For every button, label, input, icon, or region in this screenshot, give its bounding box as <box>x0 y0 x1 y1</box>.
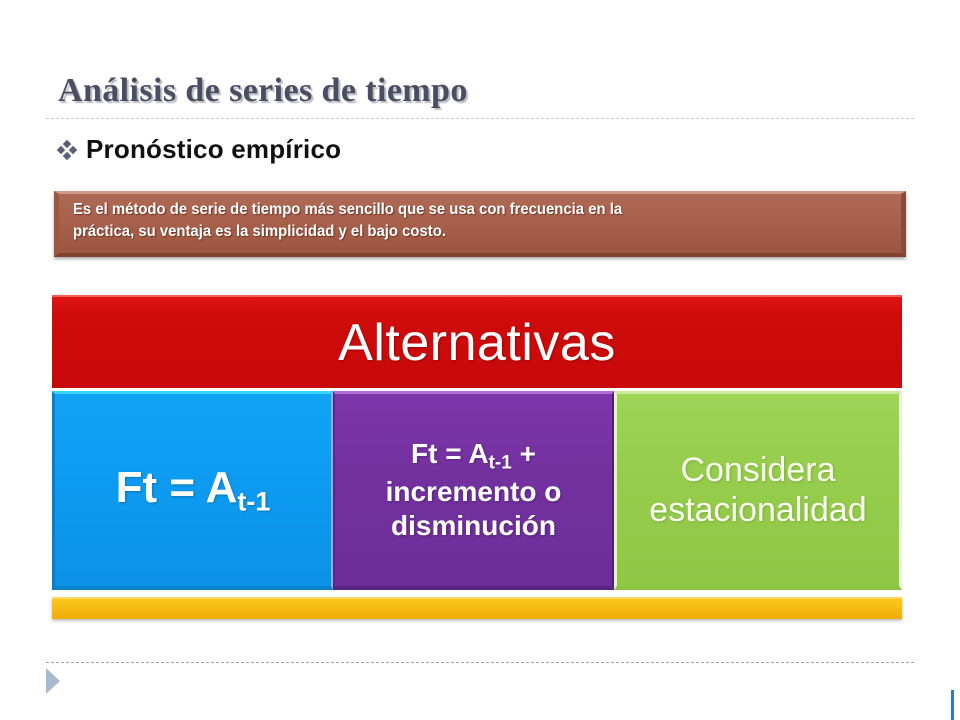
footer-divider <box>46 662 914 663</box>
callout-line-1: Es el método de serie de tiempo más senc… <box>73 199 854 221</box>
page-title: Análisis de series de tiempo <box>58 72 468 110</box>
box-purple-subscript: t-1 <box>489 453 512 474</box>
diagram-box-empirico-simple: Ft = At-1 <box>52 391 333 590</box>
bullet-item-label: Pronóstico empírico <box>86 134 341 165</box>
bullet-list-item: Pronóstico empírico <box>58 134 341 165</box>
box-purple-content: Ft = At-1 + incremento o disminución <box>343 437 604 543</box>
diagram-bottom-accent-bar <box>52 597 902 619</box>
diagram-box-con-incremento: Ft = At-1 + incremento o disminución <box>333 391 614 590</box>
slide-canvas: Análisis de series de tiempo Pronóstico … <box>0 0 960 720</box>
diagram-header: Alternativas <box>52 295 902 388</box>
box-purple-main: Ft = A <box>411 438 489 469</box>
diagram-right-accent-rule <box>951 690 954 720</box>
callout-line-2: práctica, su ventaja es la simplicidad y… <box>73 221 854 243</box>
definition-callout-box: Es el método de serie de tiempo más senc… <box>54 191 906 257</box>
alternatives-diagram: Alternativas Ft = At-1 Ft = At-1 + incre… <box>52 295 902 595</box>
box-purple-extra: incremento o disminución <box>386 476 562 541</box>
diagram-header-label: Alternativas <box>338 313 616 373</box>
box-blue-subscript: t-1 <box>237 486 270 516</box>
diagram-boxes-row: Ft = At-1 Ft = At-1 + incremento o dismi… <box>52 391 902 590</box>
footer-triangle-marker <box>46 668 60 694</box>
box-blue-main: Ft = A <box>116 463 238 512</box>
diamond-cluster-bullet-icon <box>58 141 76 159</box>
box-purple-operator: + <box>520 438 536 469</box>
title-divider <box>46 118 914 119</box>
box-blue-content: Ft = At-1 <box>116 465 271 516</box>
box-green-label: Considera estacionalidad <box>625 450 891 530</box>
diagram-box-estacionalidad: Considera estacionalidad <box>614 391 902 590</box>
